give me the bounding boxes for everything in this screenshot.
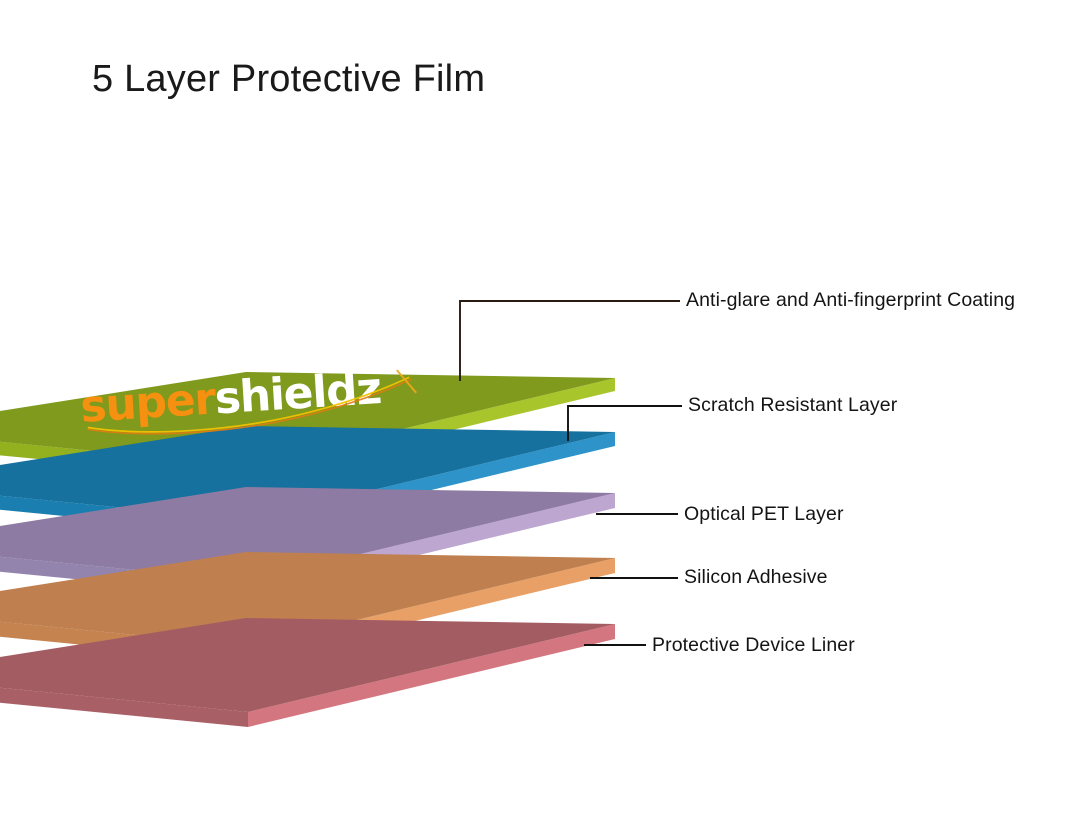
callout-label-anti-glare: Anti-glare and Anti-fingerprint Coating <box>686 289 1015 312</box>
callout-label-device-liner: Protective Device Liner <box>652 634 855 657</box>
leader-anti-glare <box>460 301 680 381</box>
diagram-canvas: 5 Layer Protective Film Protection Profe… <box>0 0 1080 817</box>
callout-label-scratch-resistant: Scratch Resistant Layer <box>688 394 897 417</box>
layer-slabs <box>0 372 615 727</box>
callout-label-optical-pet: Optical PET Layer <box>684 503 844 526</box>
callout-label-silicon-adhesive: Silicon Adhesive <box>684 566 828 589</box>
layer-stack-illustration <box>0 0 1080 817</box>
